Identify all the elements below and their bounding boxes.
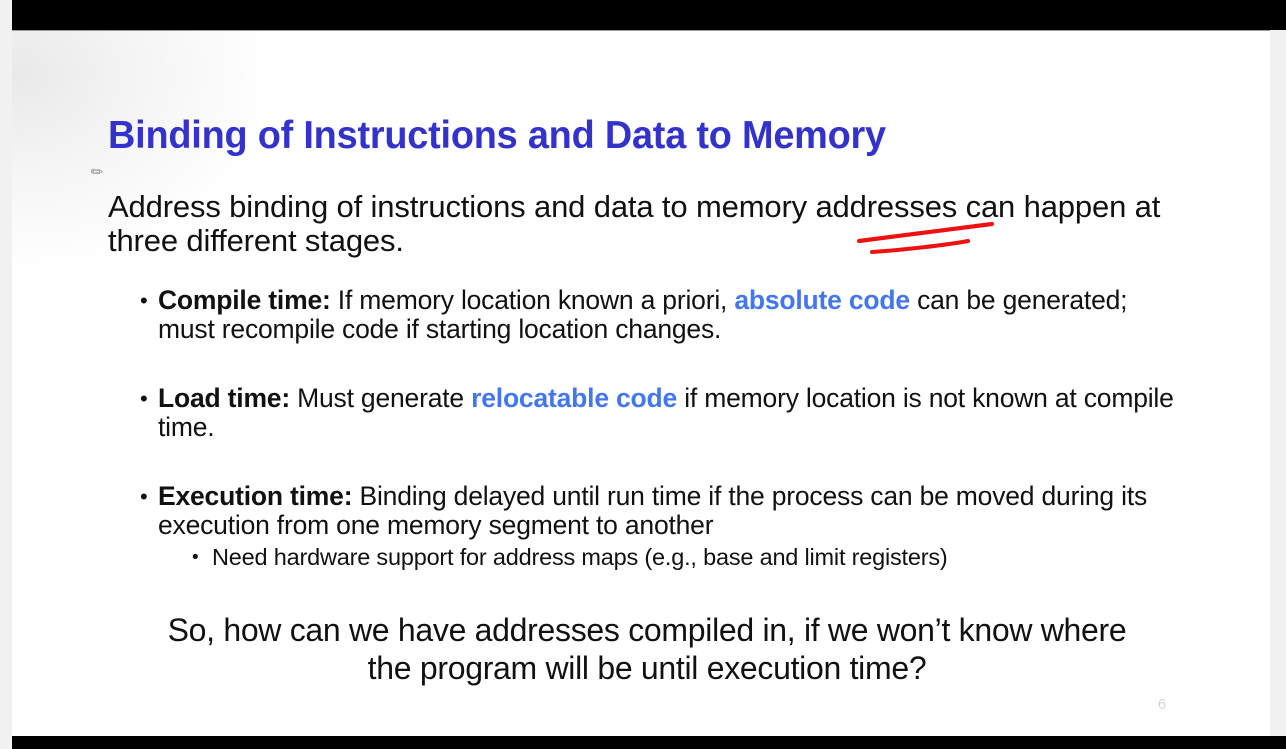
left-gutter bbox=[0, 0, 12, 749]
bullet-marker-icon: • bbox=[140, 384, 148, 413]
lead-paragraph-highlight: addresses bbox=[815, 189, 957, 224]
bullet-text-before: Must generate bbox=[290, 383, 471, 413]
pencil-icon: ✎ bbox=[87, 161, 108, 183]
closing-question-line-1: So, how can we have addresses compiled i… bbox=[72, 611, 1222, 649]
sub-bullet-text: Need hardware support for address maps (… bbox=[212, 544, 948, 570]
bullet-term: Load time bbox=[158, 383, 281, 413]
lead-paragraph: Address binding of instructions and data… bbox=[108, 190, 1178, 258]
bullet-marker-icon: • bbox=[140, 482, 148, 511]
slide-title: Binding of Instructions and Data to Memo… bbox=[108, 114, 886, 158]
page-number: 6 bbox=[1142, 696, 1182, 713]
bullet-term: Compile time bbox=[158, 285, 322, 315]
bullet-colon: : bbox=[322, 285, 331, 315]
bullet-colon: : bbox=[281, 383, 290, 413]
slide-canvas: Binding of Instructions and Data to Memo… bbox=[12, 30, 1270, 736]
lead-paragraph-before: Address binding of instructions and data… bbox=[108, 189, 815, 224]
sub-bullet-marker-icon: • bbox=[192, 544, 198, 571]
closing-question: So, how can we have addresses compiled i… bbox=[72, 611, 1222, 687]
bullet-marker-icon: • bbox=[140, 286, 148, 315]
right-gutter bbox=[1272, 0, 1286, 749]
closing-question-line-2: the program will be until execution time… bbox=[72, 649, 1222, 687]
list-item: • Load time: Must generate relocatable c… bbox=[158, 384, 1178, 442]
sub-list-item: • Need hardware support for address maps… bbox=[212, 544, 1192, 571]
slide-viewer: Binding of Instructions and Data to Memo… bbox=[0, 0, 1286, 749]
bullet-keyword: absolute code bbox=[734, 285, 910, 315]
bullet-term: Execution time bbox=[158, 481, 344, 511]
top-letterbox-bar bbox=[12, 0, 1286, 30]
list-item: • Compile time: If memory location known… bbox=[158, 286, 1178, 344]
list-item: • Execution time: Binding delayed until … bbox=[158, 482, 1178, 540]
bottom-letterbox-bar bbox=[12, 736, 1286, 749]
bullet-text-before: If memory location known a priori, bbox=[331, 285, 735, 315]
bullet-keyword: relocatable code bbox=[471, 383, 677, 413]
